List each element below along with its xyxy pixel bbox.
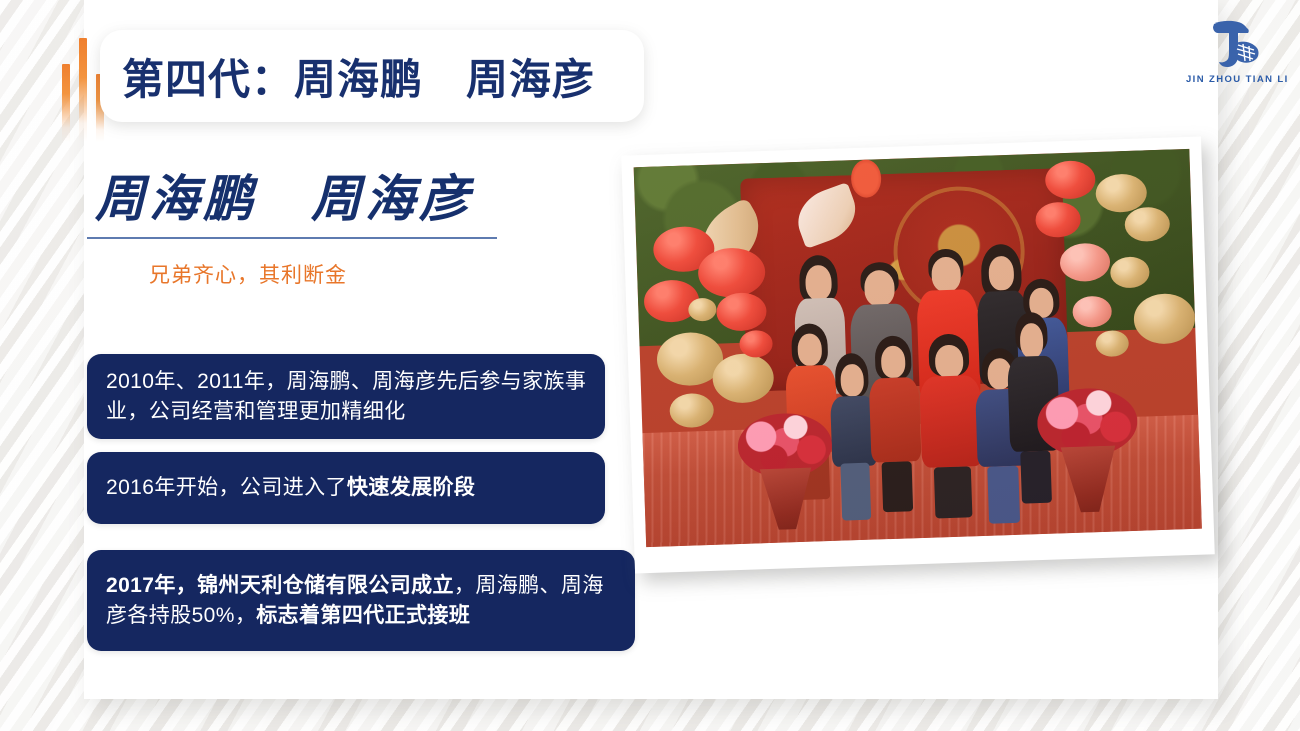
section-divider [87, 237, 497, 239]
person [867, 340, 923, 509]
balloon [669, 393, 715, 429]
orange-bar-2 [79, 38, 87, 142]
timeline-text-3: 2017年，锦州天利仓储有限公司成立，周海鹏、周海彦各持股50%，标志着第四代正… [87, 571, 635, 631]
names-block: 周海鹏 周海彦 兄弟齐心，其利断金 [87, 170, 647, 289]
title-pill: 第四代：周海鹏 周海彦 [100, 30, 644, 122]
timeline-box-2: 2016年开始，公司进入了快速发展阶段 [87, 452, 605, 524]
photo-frame [621, 136, 1215, 573]
company-logo: JIN ZHOU TIAN LI [1186, 16, 1282, 100]
page-title: 第四代：周海鹏 周海彦 [100, 46, 595, 107]
photo-content [634, 149, 1202, 547]
tianli-t-logo-icon [1205, 16, 1263, 72]
bouquet [736, 412, 834, 529]
timeline-text-1: 2010年、2011年，周海鹏、周海彦先后参与家族事业，公司经营和管理更加精细化 [87, 367, 605, 427]
balloon [712, 353, 775, 404]
balloon [1133, 293, 1196, 344]
timeline-text-2: 2016年开始，公司进入了快速发展阶段 [87, 473, 489, 503]
timeline-box-1: 2010年、2011年，周海鹏、周海彦先后参与家族事业，公司经营和管理更加精细化 [87, 354, 605, 439]
timeline-box-3: 2017年，锦州天利仓储有限公司成立，周海鹏、周海彦各持股50%，标志着第四代正… [87, 550, 635, 651]
logo-caption: JIN ZHOU TIAN LI [1186, 74, 1282, 85]
calligraphy-names: 周海鹏 周海彦 [87, 170, 647, 228]
orange-bar-1 [62, 64, 70, 142]
motto-text: 兄弟齐心，其利断金 [87, 259, 647, 289]
balloon [1095, 330, 1129, 358]
family-group-photo [634, 149, 1202, 547]
bouquet [1036, 386, 1140, 511]
